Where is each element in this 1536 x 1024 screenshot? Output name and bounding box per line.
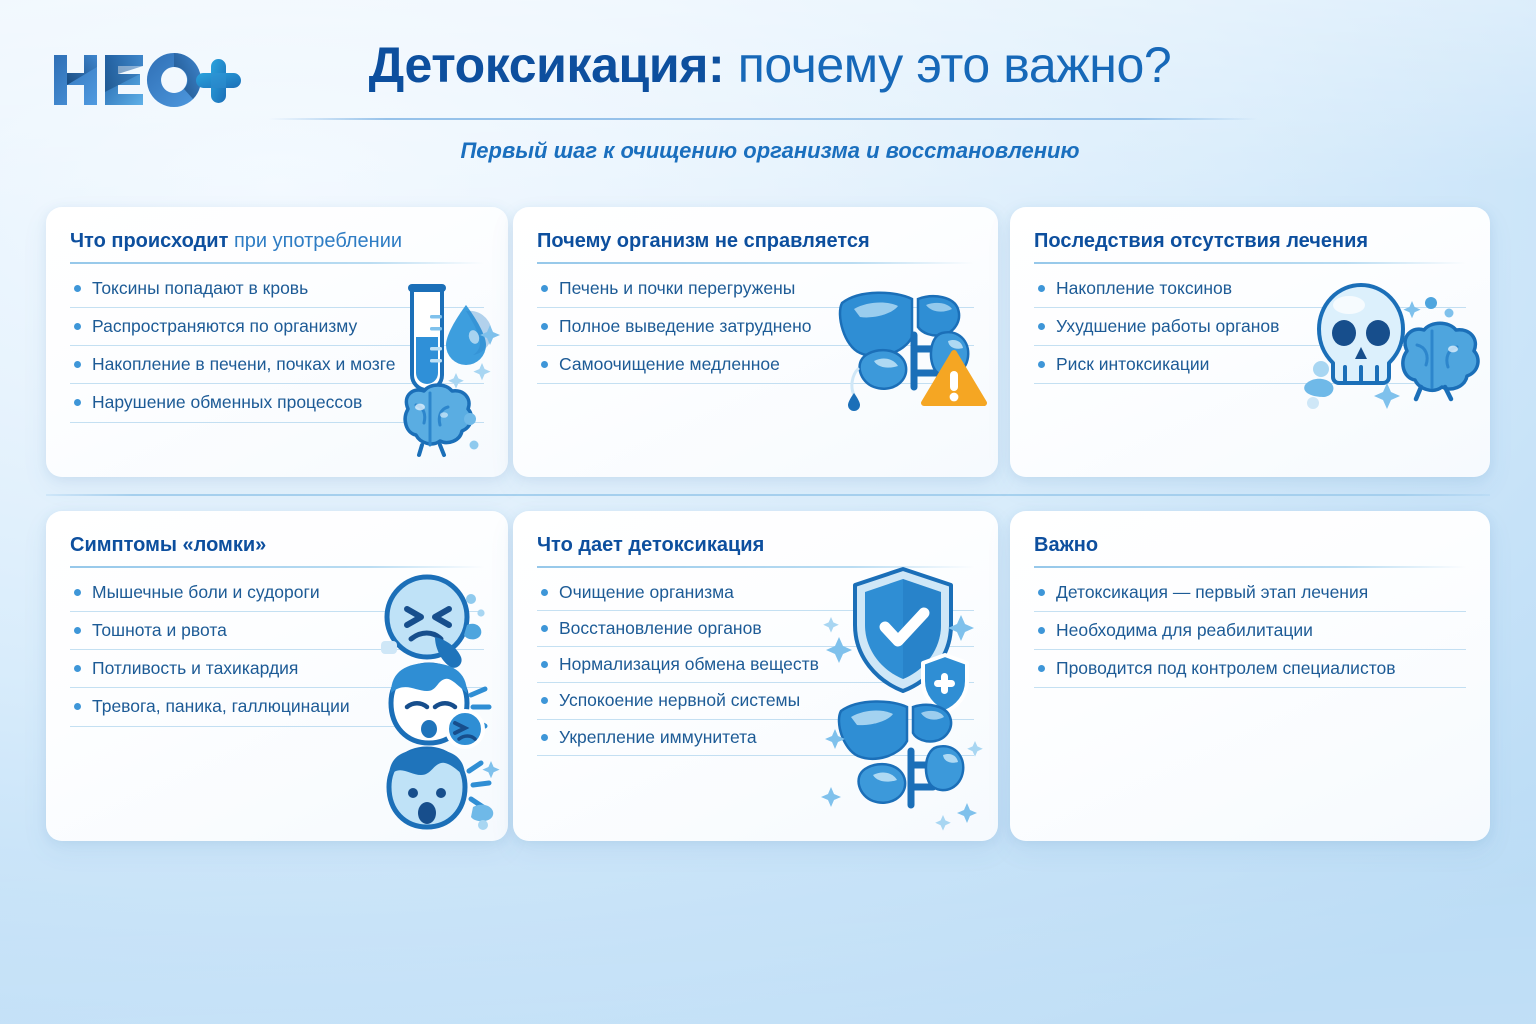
card-important[interactable]: Важно Детоксикация — первый этап лечения…: [1010, 511, 1490, 841]
card-item-list: Токсины попадают в кровь Распространяютс…: [70, 276, 484, 423]
card-title-underline: [1034, 262, 1466, 264]
list-item: Тревога, паника, галлюцинации: [70, 694, 484, 726]
card-withdrawal-symptoms[interactable]: Симптомы «ломки» Мышечные боли и судорог…: [46, 511, 508, 841]
list-item: Распространяются по организму: [70, 314, 484, 346]
list-item: Проводится под контролем специалистов: [1034, 656, 1466, 688]
title-divider: [268, 118, 1258, 120]
card-consequences[interactable]: Последствия отсутствия лечения Накоплени…: [1010, 207, 1490, 477]
card-item-list: Детоксикация — первый этап лечения Необх…: [1034, 580, 1466, 688]
card-title-strong: Что происходит: [70, 230, 228, 252]
page-title: Детоксикация: почему это важно?: [290, 38, 1250, 92]
brand-logo-neo-plus: [48, 45, 248, 115]
card-title-underline: [70, 262, 484, 264]
card-item-list: Очищение организма Восстановление органо…: [537, 580, 974, 756]
card-title-light: при употреблении: [228, 230, 402, 252]
list-item: Потливость и тахикардия: [70, 656, 484, 688]
list-item: Нарушение обменных процессов: [70, 390, 484, 422]
list-item: Мышечные боли и судороги: [70, 580, 484, 612]
list-item: Укрепление иммунитета: [537, 725, 974, 756]
card-title-underline: [70, 566, 484, 568]
list-item: Восстановление органов: [537, 616, 974, 647]
card-title-strong: Симптомы «ломки»: [70, 534, 266, 556]
card-why-body-fails[interactable]: Почему организм не справляется Печень и …: [513, 207, 998, 477]
card-title-strong: Почему организм не справляется: [537, 230, 870, 252]
list-item: Необходима для реабилитации: [1034, 618, 1466, 650]
card-title: Что происходит при употреблении: [70, 229, 484, 253]
list-item: Успокоение нервной системы: [537, 688, 974, 719]
page-header: Детоксикация: почему это важно? Первый ш…: [0, 0, 1536, 186]
page-subtitle: Первый шаг к очищению организма и восста…: [290, 138, 1250, 164]
card-detox-benefits[interactable]: Что дает детоксикация Очищение организма…: [513, 511, 998, 841]
list-item: Самоочищение медленное: [537, 352, 974, 384]
list-item: Тошнота и рвота: [70, 618, 484, 650]
card-title-underline: [1034, 566, 1466, 568]
list-item: Печень и почки перегружены: [537, 276, 974, 308]
card-title-strong: Последствия отсутствия лечения: [1034, 230, 1368, 252]
page-title-light: почему это важно?: [724, 37, 1171, 93]
list-item: Токсины попадают в кровь: [70, 276, 484, 308]
card-title: Последствия отсутствия лечения: [1034, 229, 1466, 253]
card-title: Симптомы «ломки»: [70, 533, 484, 557]
card-title: Важно: [1034, 533, 1466, 557]
card-item-list: Мышечные боли и судороги Тошнота и рвота…: [70, 580, 484, 727]
card-title: Что дает детоксикация: [537, 533, 974, 557]
card-title: Почему организм не справляется: [537, 229, 974, 253]
card-what-happens[interactable]: Что происходит при употреблении Токсины …: [46, 207, 508, 477]
list-item: Детоксикация — первый этап лечения: [1034, 580, 1466, 612]
list-item: Нормализация обмена веществ: [537, 652, 974, 683]
list-item: Очищение организма: [537, 580, 974, 611]
page-title-strong: Детоксикация:: [369, 37, 725, 93]
card-title-underline: [537, 566, 974, 568]
card-item-list: Печень и почки перегружены Полное выведе…: [537, 276, 974, 384]
card-item-list: Накопление токсинов Ухудшение работы орг…: [1034, 276, 1466, 384]
list-item: Полное выведение затруднено: [537, 314, 974, 346]
card-title-strong: Важно: [1034, 534, 1098, 556]
row-divider: [46, 494, 1490, 496]
list-item: Риск интоксикации: [1034, 352, 1466, 384]
card-title-underline: [537, 262, 974, 264]
list-item: Ухудшение работы органов: [1034, 314, 1466, 346]
list-item: Накопление токсинов: [1034, 276, 1466, 308]
card-title-strong: Что дает детоксикация: [537, 534, 764, 556]
list-item: Накопление в печени, почках и мозге: [70, 352, 484, 384]
